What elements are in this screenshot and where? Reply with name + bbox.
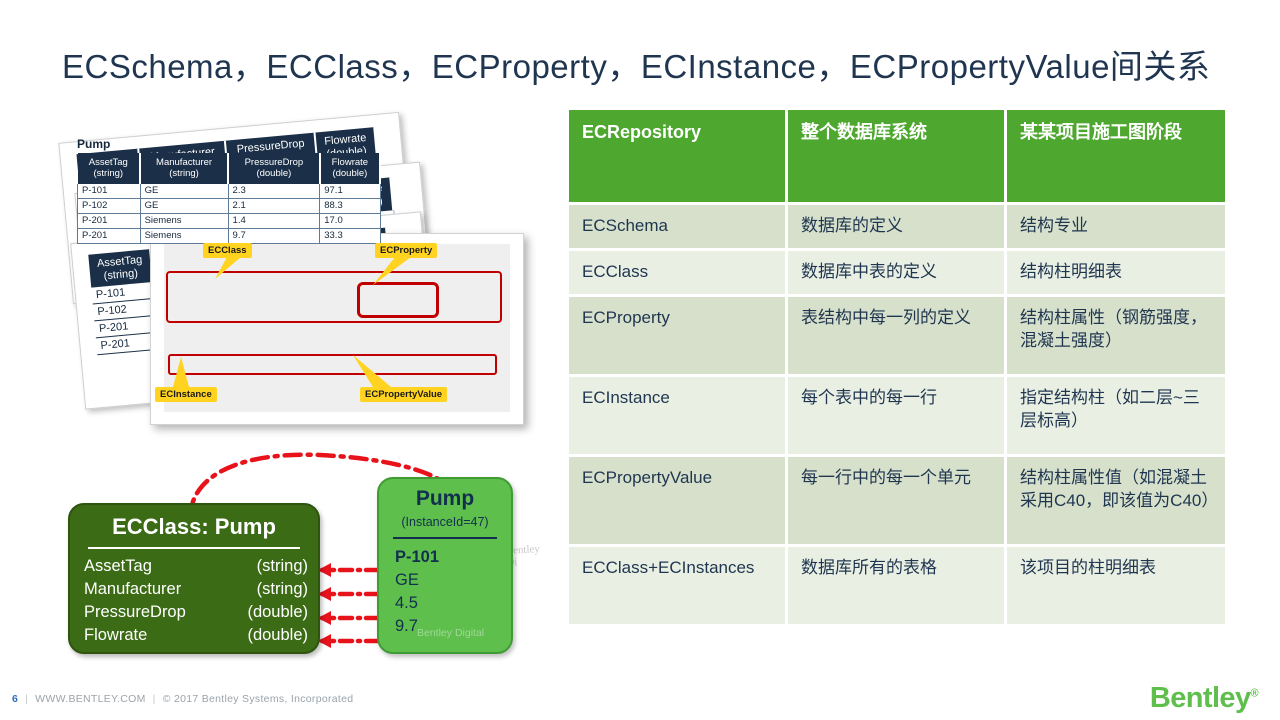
property-type: (string)	[257, 578, 308, 601]
property-value-links	[322, 570, 378, 641]
cell: 9.7	[228, 228, 320, 243]
callout-ecclass: ECClass	[203, 243, 252, 258]
cell: P-101	[78, 184, 141, 199]
table-header-row: ECRepository 整个数据库系统 某某项目施工图阶段	[569, 110, 1225, 205]
list-item: 4.5	[395, 592, 505, 615]
slide-root: ECSchema，ECClass，ECProperty，ECInstance，E…	[0, 0, 1280, 720]
list-item: GE	[395, 569, 505, 592]
cell-dbmeaning: 表结构中每一列的定义	[788, 297, 1007, 377]
property-type: (double)	[247, 624, 308, 647]
detail-col-header-manufacturer: Manufacturer(string)	[140, 153, 228, 184]
ecclass-property-list: AssetTag (string) Manufacturer (string) …	[80, 555, 312, 647]
cell: P-201	[78, 228, 141, 243]
cell: 2.1	[228, 198, 320, 213]
list-item: Manufacturer (string)	[80, 578, 312, 601]
bentley-logo: Bentley®	[1150, 682, 1258, 715]
instance-id-label: (InstanceId=47)	[379, 515, 511, 529]
table-row: P-201 Siemens 9.7 33.3	[78, 228, 381, 243]
instance-watermark: Bentley Digital	[417, 627, 484, 639]
footer-copyright: © 2017 Bentley Systems, Incorporated	[163, 693, 354, 705]
cell-dbmeaning: 数据库中表的定义	[788, 251, 1007, 297]
cell: GE	[140, 198, 228, 213]
slide-footer: 6|WWW.BENTLEY.COM|© 2017 Bentley Systems…	[0, 684, 1280, 720]
property-name: Flowrate	[84, 624, 147, 647]
footer-meta: 6|WWW.BENTLEY.COM|© 2017 Bentley Systems…	[12, 693, 353, 705]
instance-box-title: Pump	[379, 487, 511, 511]
cell-example: 结构柱属性值（如混凝土采用C40，即该值为C40）	[1007, 457, 1225, 547]
cell: 33.3	[320, 228, 380, 243]
detail-table: AssetTag(string) Manufacturer(string) Pr…	[77, 153, 381, 244]
table-row: P-101 GE 2.3 97.1	[78, 184, 381, 199]
cell-term: ECProperty	[569, 297, 788, 377]
cell: P-102	[78, 198, 141, 213]
divider	[393, 537, 497, 539]
detail-col-header-pressuredrop: PressureDrop(double)	[228, 153, 320, 184]
cell-term: ECClass	[569, 251, 788, 297]
ecclass-definition-box: ECClass: Pump AssetTag (string) Manufact…	[68, 503, 320, 654]
instance-value-list: P-101 GE 4.5 9.7	[395, 546, 505, 638]
property-name: AssetTag	[84, 555, 152, 578]
ecinstance-box: Pump (InstanceId=47) P-101 GE 4.5 9.7 Be…	[377, 477, 513, 654]
table-row: P-201 Siemens 1.4 17.0	[78, 213, 381, 228]
cell: 97.1	[320, 184, 380, 199]
cell-example: 结构柱属性（钢筋强度，混凝土强度）	[1007, 297, 1225, 377]
table-row: ECPropertyValue 每一行中的每一个单元 结构柱属性值（如混凝土采用…	[569, 457, 1225, 547]
cell: 88.3	[320, 198, 380, 213]
cell-term: ECSchema	[569, 205, 788, 251]
table-row: ECClass 数据库中表的定义 结构柱明细表	[569, 251, 1225, 297]
cell: 1.4	[228, 213, 320, 228]
cell-dbmeaning: 每个表中的每一行	[788, 377, 1007, 457]
list-item: Flowrate (double)	[80, 624, 312, 647]
cell: Siemens	[140, 213, 228, 228]
column-header-dbmeaning: 整个数据库系统	[788, 110, 1007, 205]
cell-term: ECClass+ECInstances	[569, 547, 788, 627]
property-name: PressureDrop	[84, 601, 186, 624]
table-row: ECInstance 每个表中的每一行 指定结构柱（如二层~三层标高）	[569, 377, 1225, 457]
list-item: AssetTag (string)	[80, 555, 312, 578]
divider	[88, 547, 300, 549]
callout-ecproperty: ECProperty	[375, 243, 437, 258]
list-item: P-101	[395, 546, 505, 569]
ec-concept-diagram: AssetTag(string) Manufacturer(string) Pr…	[55, 105, 555, 440]
diagram-class-name: Pump	[77, 137, 110, 151]
cell: 17.0	[320, 213, 380, 228]
cell: Siemens	[140, 228, 228, 243]
relationship-table: ECRepository 整个数据库系统 某某项目施工图阶段 ECSchema …	[569, 110, 1225, 627]
property-type: (string)	[257, 555, 308, 578]
callout-ecinstance: ECInstance	[155, 387, 217, 402]
table-row: P-102 GE 2.1 88.3	[78, 198, 381, 213]
cell: P-201	[78, 213, 141, 228]
cell-example: 结构专业	[1007, 205, 1225, 251]
cell-dbmeaning: 每一行中的每一个单元	[788, 457, 1007, 547]
property-name: Manufacturer	[84, 578, 181, 601]
cell-example: 该项目的柱明细表	[1007, 547, 1225, 627]
property-type: (double)	[247, 601, 308, 624]
callout-ecpropertyvalue: ECPropertyValue	[360, 387, 447, 402]
column-header-term: ECRepository	[569, 110, 788, 205]
detail-header-row: AssetTag(string) Manufacturer(string) Pr…	[78, 153, 381, 184]
footer-site: WWW.BENTLEY.COM	[35, 693, 145, 705]
cell-term: ECPropertyValue	[569, 457, 788, 547]
cell-example: 指定结构柱（如二层~三层标高）	[1007, 377, 1225, 457]
list-item: PressureDrop (double)	[80, 601, 312, 624]
table-row: ECProperty 表结构中每一列的定义 结构柱属性（钢筋强度，混凝土强度）	[569, 297, 1225, 377]
cell-dbmeaning: 数据库所有的表格	[788, 547, 1007, 627]
table-row: ECClass+ECInstances 数据库所有的表格 该项目的柱明细表	[569, 547, 1225, 627]
column-header-example: 某某项目施工图阶段	[1007, 110, 1225, 205]
cell: GE	[140, 184, 228, 199]
page-title: ECSchema，ECClass，ECProperty，ECInstance，E…	[62, 40, 1232, 88]
cell-term: ECInstance	[569, 377, 788, 457]
cell-dbmeaning: 数据库的定义	[788, 205, 1007, 251]
detail-col-header-assettag: AssetTag(string)	[78, 153, 141, 184]
cell-example: 结构柱明细表	[1007, 251, 1225, 297]
cell: 2.3	[228, 184, 320, 199]
detail-col-header-flowrate: Flowrate(double)	[320, 153, 380, 184]
table-row: ECSchema 数据库的定义 结构专业	[569, 205, 1225, 251]
ecclass-box-title: ECClass: Pump	[70, 514, 318, 540]
